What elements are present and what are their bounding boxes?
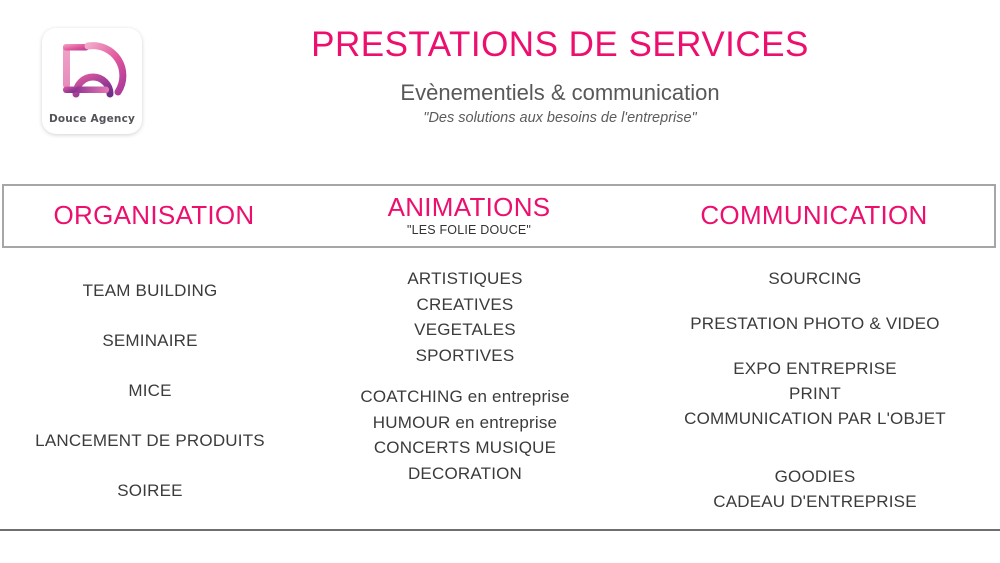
service-item: COATCHING en entreprise xyxy=(300,384,630,410)
service-item: HUMOUR en entreprise xyxy=(300,410,630,436)
title-block: PRESTATIONS DE SERVICES Evènementiels & … xyxy=(160,0,960,127)
service-item: ARTISTIQUES xyxy=(300,266,630,292)
service-item: CADEAU D'ENTREPRISE xyxy=(630,489,1000,514)
service-item: TEAM BUILDING xyxy=(0,266,300,316)
column-heading: ORGANISATION xyxy=(53,202,254,229)
services-poster: Douce Agency PRESTATIONS DE SERVICES Evè… xyxy=(0,0,1000,563)
service-item: DECORATION xyxy=(300,461,630,487)
service-group: SOURCING xyxy=(630,266,1000,291)
service-item: SPORTIVES xyxy=(300,343,630,369)
brand-logo: Douce Agency xyxy=(42,28,142,134)
service-group: TEAM BUILDING SEMINAIRE MICE LANCEMENT D… xyxy=(0,266,300,516)
service-group: ARTISTIQUES CREATIVES VEGETALES SPORTIVE… xyxy=(300,266,630,368)
service-item: GOODIES xyxy=(630,464,1000,489)
service-item: SEMINAIRE xyxy=(0,316,300,366)
brand-wordmark: Douce Agency xyxy=(42,113,142,125)
column-animations-items: ARTISTIQUES CREATIVES VEGETALES SPORTIVE… xyxy=(300,252,630,530)
columns-body: TEAM BUILDING SEMINAIRE MICE LANCEMENT D… xyxy=(0,252,1000,530)
column-header-organisation: ORGANISATION xyxy=(4,186,304,246)
column-header-band: ORGANISATION ANIMATIONS "LES FOLIE DOUCE… xyxy=(2,184,996,248)
service-group: EXPO ENTREPRISE PRINT COMMUNICATION PAR … xyxy=(630,356,1000,431)
column-header-animations: ANIMATIONS "LES FOLIE DOUCE" xyxy=(304,186,634,246)
service-item: MICE xyxy=(0,366,300,416)
page-tagline: "Des solutions aux besoins de l'entrepri… xyxy=(160,105,960,127)
service-item: VEGETALES xyxy=(300,317,630,343)
header-area: Douce Agency PRESTATIONS DE SERVICES Evè… xyxy=(0,0,1000,178)
service-item: PRESTATION PHOTO & VIDEO xyxy=(630,311,1000,336)
service-group: PRESTATION PHOTO & VIDEO xyxy=(630,311,1000,336)
column-heading: ANIMATIONS xyxy=(388,194,551,221)
column-heading: COMMUNICATION xyxy=(700,202,927,229)
service-item: CREATIVES xyxy=(300,292,630,318)
column-subheading: "LES FOLIE DOUCE" xyxy=(407,224,531,238)
column-header-communication: COMMUNICATION xyxy=(634,186,994,246)
page-title: PRESTATIONS DE SERVICES xyxy=(160,0,960,65)
service-group: GOODIES CADEAU D'ENTREPRISE xyxy=(630,464,1000,514)
page-subtitle: Evènementiels & communication xyxy=(160,65,960,105)
service-group: COATCHING en entreprise HUMOUR en entrep… xyxy=(300,384,630,486)
service-item: EXPO ENTREPRISE xyxy=(630,356,1000,381)
douce-agency-monogram-icon xyxy=(42,32,142,110)
bottom-divider xyxy=(0,529,1000,531)
column-communication-items: SOURCING PRESTATION PHOTO & VIDEO EXPO E… xyxy=(630,252,1000,530)
column-organisation-items: TEAM BUILDING SEMINAIRE MICE LANCEMENT D… xyxy=(0,252,300,530)
service-item: CONCERTS MUSIQUE xyxy=(300,435,630,461)
service-item: LANCEMENT DE PRODUITS xyxy=(0,416,300,466)
service-item: COMMUNICATION PAR L'OBJET xyxy=(630,406,1000,431)
service-item: SOIREE xyxy=(0,466,300,516)
service-item: PRINT xyxy=(630,381,1000,406)
service-item: SOURCING xyxy=(630,266,1000,291)
